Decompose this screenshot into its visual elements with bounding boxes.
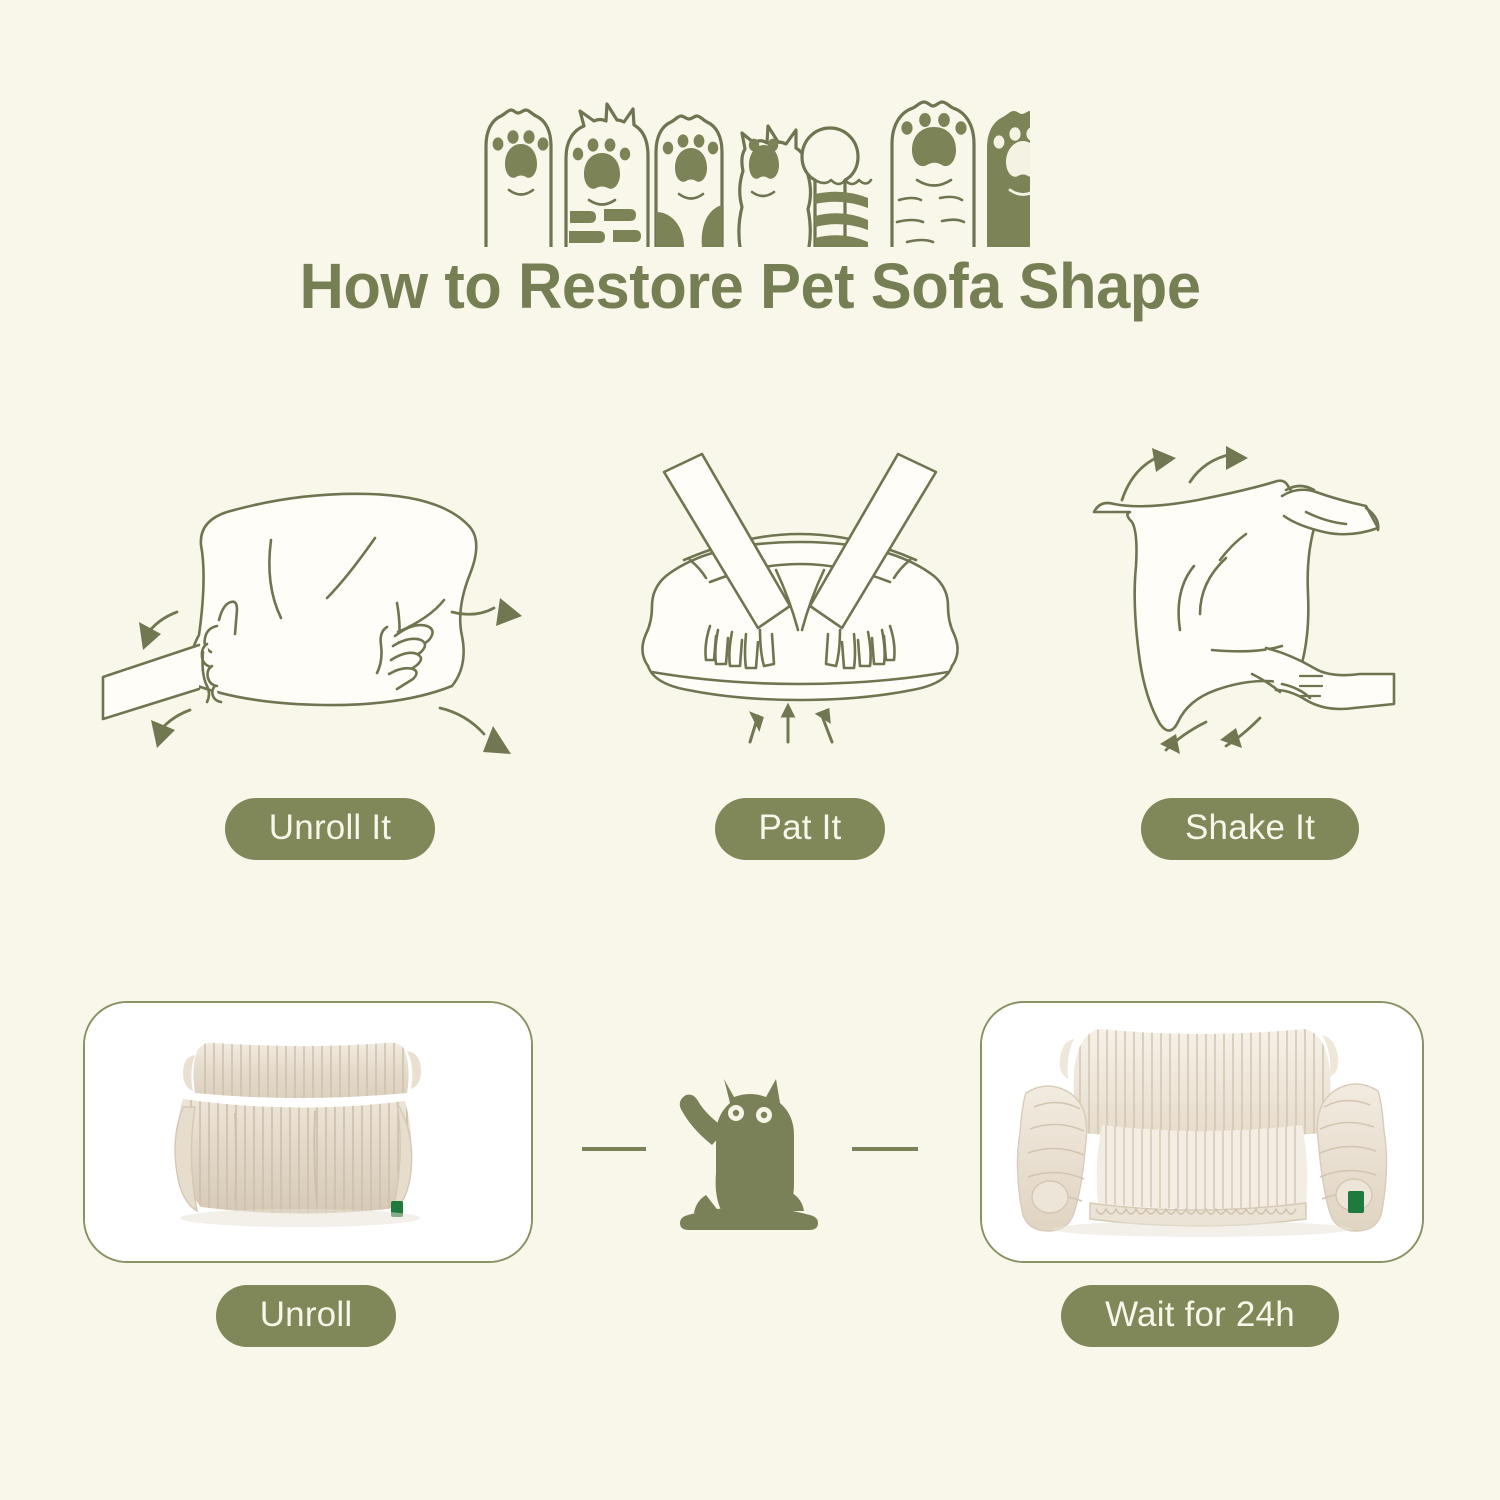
expanded-pet-sofa-photo — [982, 1003, 1422, 1261]
compressed-pet-sofa-photo — [85, 1003, 531, 1261]
step-shake-it-label-wrap: Shake It — [1060, 798, 1440, 860]
product-photo-card-before — [83, 1001, 533, 1263]
cat-paws-decoration — [0, 72, 1500, 247]
cat-divider — [580, 1055, 920, 1245]
step-unroll-it: Unroll It — [95, 430, 565, 870]
result-before-label-wrap: Unroll — [83, 1285, 529, 1347]
step-label-shake-it: Shake It — [1141, 798, 1359, 860]
product-photo-card-after — [980, 1001, 1424, 1263]
pat-it-illustration — [600, 430, 1000, 770]
result-after-label-wrap: Wait for 24h — [980, 1285, 1420, 1347]
step-label-pat-it: Pat It — [715, 798, 886, 860]
step-pat-it-label-wrap: Pat It — [600, 798, 1000, 860]
step-pat-it: Pat It — [600, 430, 1000, 870]
result-label-unroll: Unroll — [216, 1285, 397, 1347]
page-title: How to Restore Pet Sofa Shape — [30, 252, 1470, 321]
steps-row: Unroll It — [0, 430, 1500, 870]
shake-it-illustration — [1060, 430, 1440, 770]
cat-silhouette-icon — [680, 1079, 818, 1230]
cat-paws-icon — [470, 72, 1030, 247]
result-label-wait-for-24h: Wait for 24h — [1061, 1285, 1339, 1347]
step-shake-it: Shake It — [1060, 430, 1440, 870]
unroll-it-illustration — [95, 430, 565, 770]
step-unroll-it-label-wrap: Unroll It — [95, 798, 565, 860]
infographic-root: How to Restore Pet Sofa Shape — [0, 0, 1500, 1500]
step-label-unroll-it: Unroll It — [225, 798, 435, 860]
